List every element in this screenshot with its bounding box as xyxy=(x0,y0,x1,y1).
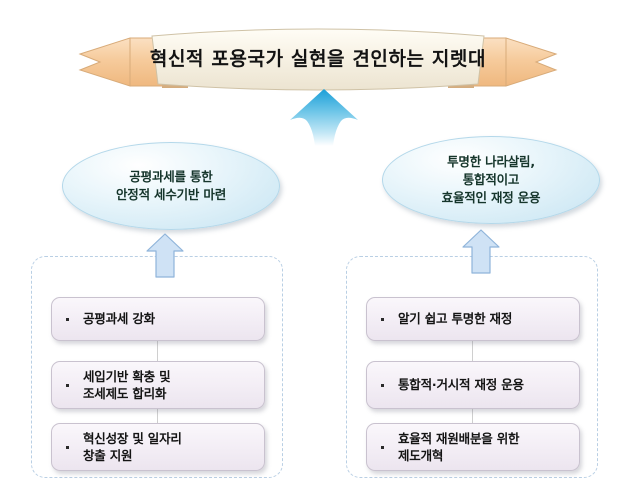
goal-oval-tax: 공평과세를 통한 안정적 세수기반 마련 xyxy=(62,142,280,230)
bullet-icon xyxy=(66,384,69,387)
bullet-icon xyxy=(381,384,384,387)
bullet-icon xyxy=(66,318,69,321)
task-item-label: 효율적 재원배분을 위한 제도개혁 xyxy=(398,430,519,465)
banner: 혁신적 포용국가 실현을 견인하는 지렛대 xyxy=(78,24,558,92)
goal-oval-finance: 투명한 나라살림, 통합적이고 효율적인 재정 운용 xyxy=(382,136,600,224)
task-item[interactable]: 알기 쉽고 투명한 재정 xyxy=(366,297,580,341)
branch-up-arrow-icon-left xyxy=(145,232,185,278)
task-item[interactable]: 공평과세 강화 xyxy=(51,297,265,341)
task-item-label: 공평과세 강화 xyxy=(83,310,155,328)
task-item[interactable]: 혁신성장 및 일자리 창출 지원 xyxy=(51,423,265,471)
task-item-label: 통합적·거시적 재정 운용 xyxy=(398,376,524,394)
bullet-icon xyxy=(381,446,384,449)
bullet-icon xyxy=(381,318,384,321)
connector-line xyxy=(157,341,158,361)
bullet-icon xyxy=(66,446,69,449)
goal-oval-finance-label: 투명한 나라살림, 통합적이고 효율적인 재정 운용 xyxy=(442,153,541,207)
branch-up-arrow-icon-right xyxy=(461,228,501,274)
task-group-finance: 알기 쉽고 투명한 재정 통합적·거시적 재정 운용 효율적 재원배분을 위한 … xyxy=(346,256,598,478)
task-item-label: 세입기반 확충 및 조세제도 합리화 xyxy=(83,368,170,403)
connector-line xyxy=(472,341,473,361)
task-item[interactable]: 세입기반 확충 및 조세제도 합리화 xyxy=(51,361,265,409)
connector-line xyxy=(157,409,158,423)
goal-oval-tax-label: 공평과세를 통한 안정적 세수기반 마련 xyxy=(116,168,226,204)
task-item[interactable]: 통합적·거시적 재정 운용 xyxy=(366,361,580,409)
diagram-canvas: 혁신적 포용국가 실현을 견인하는 지렛대 공평과세를 통한 안정적 세수기반 … xyxy=(0,0,636,496)
task-item-label: 혁신성장 및 일자리 창출 지원 xyxy=(83,430,182,465)
banner-title: 혁신적 포용국가 실현을 견인하는 지렛대 xyxy=(78,24,558,92)
main-up-arrow-icon xyxy=(286,88,362,146)
task-item-label: 알기 쉽고 투명한 재정 xyxy=(398,310,512,328)
task-group-tax: 공평과세 강화 세입기반 확충 및 조세제도 합리화 혁신성장 및 일자리 창출… xyxy=(31,256,283,478)
task-item[interactable]: 효율적 재원배분을 위한 제도개혁 xyxy=(366,423,580,471)
connector-line xyxy=(472,409,473,423)
